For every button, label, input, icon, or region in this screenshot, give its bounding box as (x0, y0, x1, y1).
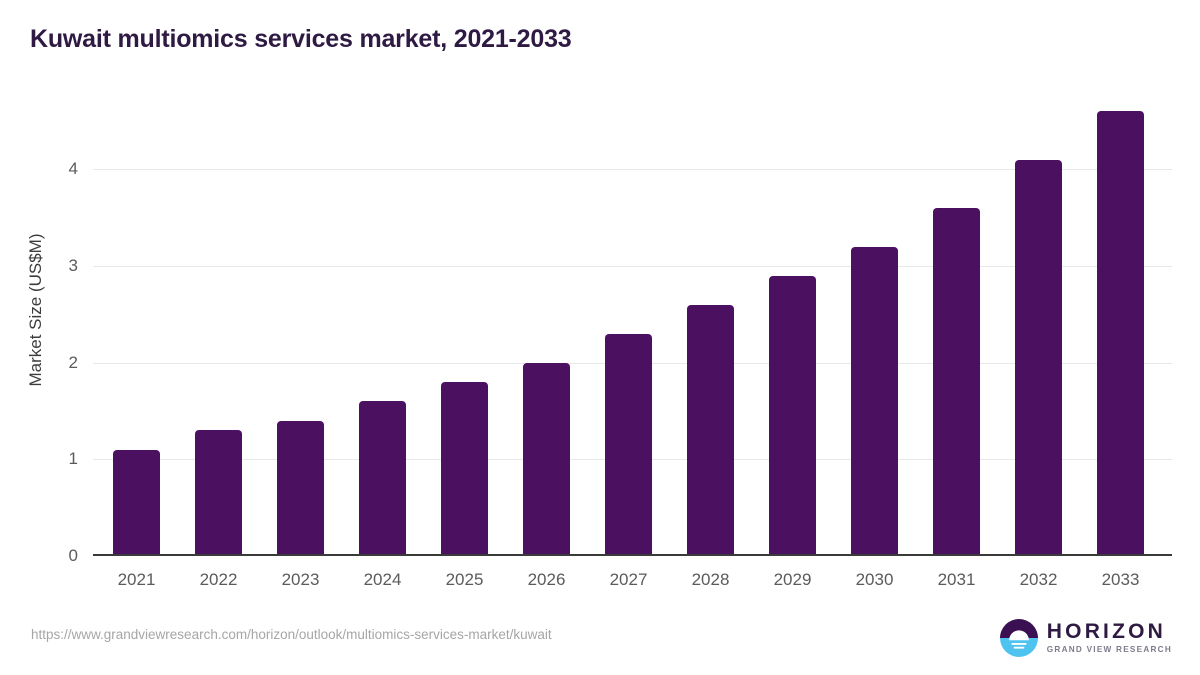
bar-2032[interactable] (1015, 160, 1062, 556)
page-title: Kuwait multiomics services market, 2021-… (30, 25, 572, 54)
gridline-3 (93, 266, 1172, 267)
logo-tagline: GRAND VIEW RESEARCH (1047, 645, 1172, 655)
y-axis-tick-labels: 01234 (33, 100, 78, 556)
x-tick-label-2022: 2022 (174, 570, 264, 590)
bar-2030[interactable] (851, 247, 898, 556)
x-tick-label-2029: 2029 (748, 570, 838, 590)
bar-2031[interactable] (933, 208, 980, 556)
y-tick-label: 4 (38, 159, 78, 179)
x-axis-tick-labels: 2021202220232024202520262027202820292030… (93, 570, 1172, 600)
logo-wordmark: HORIZON GRAND VIEW RESEARCH (1047, 621, 1172, 654)
bar-2025[interactable] (441, 382, 488, 556)
y-tick-label: 3 (38, 256, 78, 276)
bar-2028[interactable] (687, 305, 734, 556)
y-tick-label: 0 (38, 546, 78, 566)
bar-2029[interactable] (769, 276, 816, 556)
plot-area (93, 100, 1172, 556)
x-tick-label-2027: 2027 (584, 570, 674, 590)
x-tick-label-2025: 2025 (420, 570, 510, 590)
x-tick-label-2023: 2023 (256, 570, 346, 590)
logo-name: HORIZON (1047, 621, 1172, 642)
bar-2026[interactable] (523, 363, 570, 556)
bar-2033[interactable] (1097, 111, 1144, 556)
x-tick-label-2021: 2021 (92, 570, 182, 590)
bar-2024[interactable] (359, 401, 406, 556)
y-tick-label: 2 (38, 353, 78, 373)
horizon-sunrise-circle-icon (1000, 619, 1038, 657)
y-tick-label: 1 (38, 449, 78, 469)
bar-2023[interactable] (277, 421, 324, 556)
x-tick-label-2026: 2026 (502, 570, 592, 590)
bar-2027[interactable] (605, 334, 652, 556)
source-url[interactable]: https://www.grandviewresearch.com/horizo… (31, 627, 552, 642)
x-tick-label-2030: 2030 (830, 570, 920, 590)
bar-2021[interactable] (113, 450, 160, 556)
chart-card: Kuwait multiomics services market, 2021-… (0, 0, 1200, 675)
x-tick-label-2031: 2031 (912, 570, 1002, 590)
gridline-4 (93, 169, 1172, 170)
horizon-logo: HORIZON GRAND VIEW RESEARCH (1000, 618, 1172, 658)
x-tick-label-2028: 2028 (666, 570, 756, 590)
x-tick-label-2024: 2024 (338, 570, 428, 590)
x-tick-label-2032: 2032 (994, 570, 1084, 590)
x-axis-line (93, 554, 1172, 556)
bar-2022[interactable] (195, 430, 242, 556)
x-tick-label-2033: 2033 (1076, 570, 1166, 590)
